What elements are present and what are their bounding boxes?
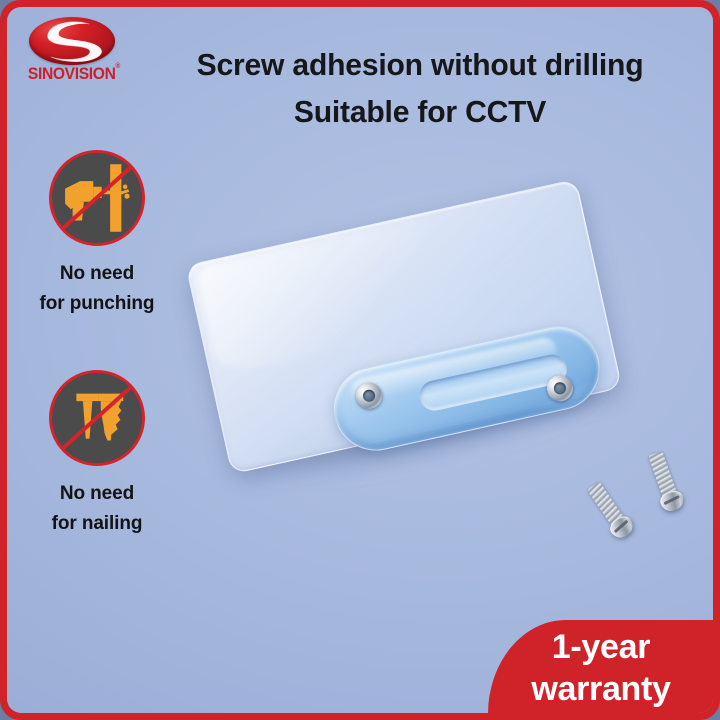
product-poster: SINOVISION® Screw adhesion without drill…: [0, 0, 720, 720]
transparent-adhesive-plate: [185, 179, 622, 475]
plate-highlight: [195, 217, 452, 376]
product-photo: [157, 127, 667, 627]
sinovision-s-swoosh-icon: [29, 17, 115, 65]
brand-logo: SINOVISION®: [21, 15, 125, 91]
warranty-badge: 1-year warranty: [488, 620, 713, 713]
feature-label-no-nailing: No need for nailing: [22, 479, 172, 539]
brand-wordmark: SINOVISION®: [28, 65, 118, 82]
warranty-line-1: 1-year: [552, 628, 650, 666]
feature-no-nailing: No need for nailing: [22, 370, 172, 539]
feature-label-line-1: No need: [22, 479, 172, 509]
machine-screw-right: [647, 451, 683, 513]
registered-trademark-icon: ®: [115, 63, 119, 70]
no-nailing-icon: [49, 370, 145, 466]
poster-background: SINOVISION® Screw adhesion without drill…: [7, 7, 713, 713]
headline-line-1: Screw adhesion without drilling: [145, 41, 694, 88]
adhesive-mounting-plate: [109, 78, 713, 677]
feature-label-line-2: for nailing: [22, 509, 172, 539]
warranty-line-2: warranty: [488, 668, 713, 710]
machine-screw-left: [586, 481, 634, 540]
